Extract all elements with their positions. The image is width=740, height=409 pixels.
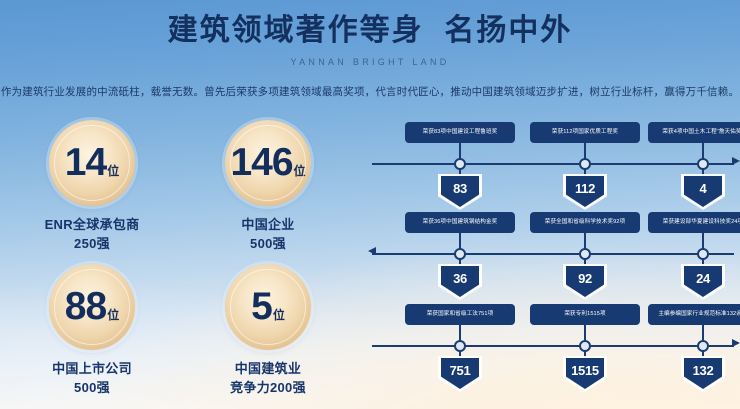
badge-number: 132 (693, 364, 714, 377)
stat-number: 146 (230, 143, 292, 182)
stat-number: 14 (65, 143, 106, 182)
badge-hexagon: 83 (438, 174, 482, 210)
stat-unit: 位 (107, 165, 119, 177)
stat-unit: 位 (273, 309, 285, 321)
page-title: 建筑领域著作等身 名扬中外 (0, 13, 740, 50)
stat-badge-circle: 14 位 (49, 120, 135, 206)
badge-hexagon: 36 (438, 264, 482, 300)
badge-hexagon: 132 (681, 356, 725, 392)
award-card-label: 荣获36项中国建筑钢结构金奖 (405, 212, 515, 233)
badge-number: 24 (696, 272, 710, 285)
intro-paragraph: 作为建筑行业发展的中流砥柱，载誉无数。曾先后荣获多项建筑领域最高奖项，代言时代匠… (0, 84, 740, 99)
timeline-node[interactable]: 荣获国家和省级工法751项 751 (401, 304, 519, 392)
timeline-node[interactable]: 荣获专利1515项 1515 (526, 304, 644, 392)
stat-badge-circle: 5 位 (225, 264, 311, 350)
timeline-node[interactable]: 荣获36项中国建筑钢结构金奖 36 (401, 212, 519, 300)
badge-number: 1515 (571, 364, 599, 377)
award-card-label: 荣获83项中国建设工程鲁班奖 (405, 122, 515, 143)
stat-card-competitiveness: 5 位 中国建筑业 竞争力200强 (180, 262, 356, 406)
stat-card-listed-company: 88 位 中国上市公司 500强 (4, 262, 180, 406)
stat-label: ENR全球承包商 250强 (45, 216, 140, 254)
timeline-node[interactable]: 荣获83项中国建设工程鲁班奖 83 (401, 122, 519, 210)
badge-hexagon: 1515 (563, 356, 607, 392)
brand-subtitle: YANNAN BRIGHT LAND (0, 57, 740, 67)
timeline-node[interactable]: 荣获全国和省级科学技术奖92项 92 (526, 212, 644, 300)
stat-card-enr: 14 位 ENR全球承包商 250强 (4, 118, 180, 262)
badge-number: 92 (578, 272, 592, 285)
timeline-node[interactable]: 主编参编国家行业规范标准132余项 132 (644, 304, 740, 392)
badge-number: 83 (453, 182, 467, 195)
badge-number: 112 (575, 182, 595, 195)
stat-label: 中国建筑业 竞争力200强 (230, 360, 306, 398)
timeline-row: 荣获83项中国建设工程鲁班奖 83 荣获112项国家优质工程奖 (370, 122, 738, 210)
badge-number: 751 (450, 364, 471, 377)
stat-label: 中国上市公司 500强 (52, 360, 132, 398)
stat-label: 中国企业 500强 (241, 216, 294, 254)
stat-unit: 位 (294, 165, 306, 177)
badge-hexagon: 4 (681, 174, 725, 210)
stat-card-china-enterprise: 146 位 中国企业 500强 (180, 118, 356, 262)
award-card-label: 荣获国家和省级工法751项 (405, 304, 515, 325)
timeline-row: 荣获国家和省级工法751项 751 荣获专利1515项 (370, 304, 738, 392)
stat-number: 5 (251, 287, 272, 326)
awards-timeline: 荣获83项中国建设工程鲁班奖 83 荣获112项国家优质工程奖 (370, 120, 738, 402)
stat-badge-circle: 88 位 (49, 264, 135, 350)
stat-badge-circle: 146 位 (225, 120, 311, 206)
badge-hexagon: 24 (681, 264, 725, 300)
award-card-label: 荣获全国和省级科学技术奖92项 (530, 212, 640, 233)
stat-number: 88 (65, 287, 106, 326)
award-card-label: 荣获专利1515项 (530, 304, 640, 325)
timeline-node[interactable]: 荣获建设部华夏建设科技奖24项 24 (644, 212, 740, 300)
badge-number: 4 (700, 182, 707, 195)
stat-unit: 位 (107, 309, 119, 321)
badge-hexagon: 751 (438, 356, 482, 392)
stats-grid: 14 位 ENR全球承包商 250强 146 位 中国企业 500强 88 位 (4, 118, 356, 406)
badge-hexagon: 112 (563, 174, 607, 210)
timeline-row: 荣获36项中国建筑钢结构金奖 36 荣获全国和省级科学技术奖92项 (370, 212, 738, 300)
arrow-left-icon (368, 247, 376, 255)
award-card-label: 主编参编国家行业规范标准132余项 (648, 304, 740, 325)
award-card-label: 荣获4项中国土木工程“詹天佑奖” (648, 122, 740, 143)
timeline-node[interactable]: 荣获112项国家优质工程奖 112 (526, 122, 644, 210)
badge-hexagon: 92 (563, 264, 607, 300)
promo-banner: 建筑领域著作等身 名扬中外 YANNAN BRIGHT LAND 作为建筑行业发… (0, 0, 740, 409)
timeline-node[interactable]: 荣获4项中国土木工程“詹天佑奖” 4 (644, 122, 740, 210)
award-card-label: 荣获112项国家优质工程奖 (530, 122, 640, 143)
award-card-label: 荣获建设部华夏建设科技奖24项 (648, 212, 740, 233)
badge-number: 36 (453, 272, 467, 285)
